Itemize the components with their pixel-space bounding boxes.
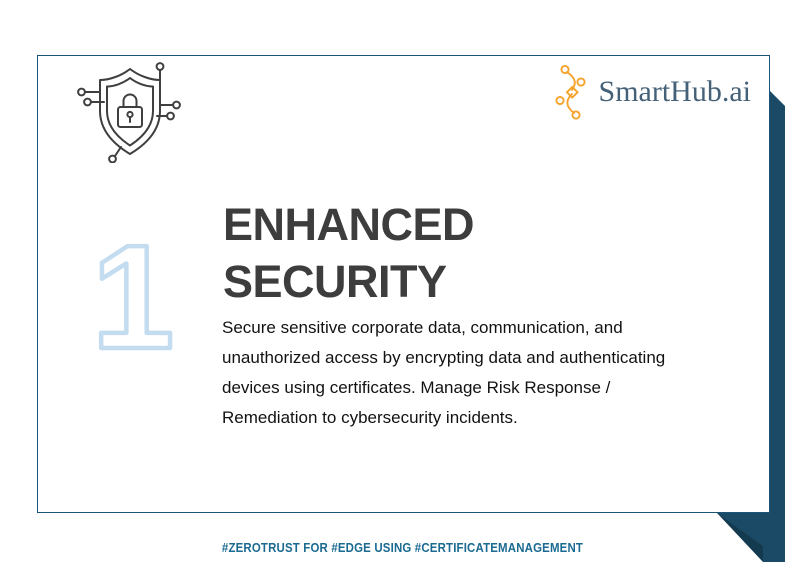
page-title-line-1: ENHANCED: [223, 199, 474, 250]
content-card: SmartHub.ai 1 ENHANCED SECURITY Secure s…: [37, 55, 770, 513]
step-numeral: 1: [83, 236, 183, 361]
brand-logo: SmartHub.ai: [551, 64, 751, 120]
footer-hashtags: #ZEROTRUST FOR #EDGE USING #CERTIFICATEM…: [48, 540, 756, 555]
step-numeral-value: 1: [92, 236, 174, 361]
shield-lock-icon: [71, 59, 189, 163]
body-paragraph: Secure sensitive corporate data, communi…: [222, 313, 692, 433]
brand-name: SmartHub.ai: [599, 77, 751, 107]
page-title-line-2: SECURITY: [223, 253, 643, 310]
page-title: ENHANCED SECURITY: [223, 196, 643, 310]
slide-canvas: SmartHub.ai 1 ENHANCED SECURITY Secure s…: [0, 0, 805, 585]
smarthub-node-curve-icon: [551, 64, 593, 120]
